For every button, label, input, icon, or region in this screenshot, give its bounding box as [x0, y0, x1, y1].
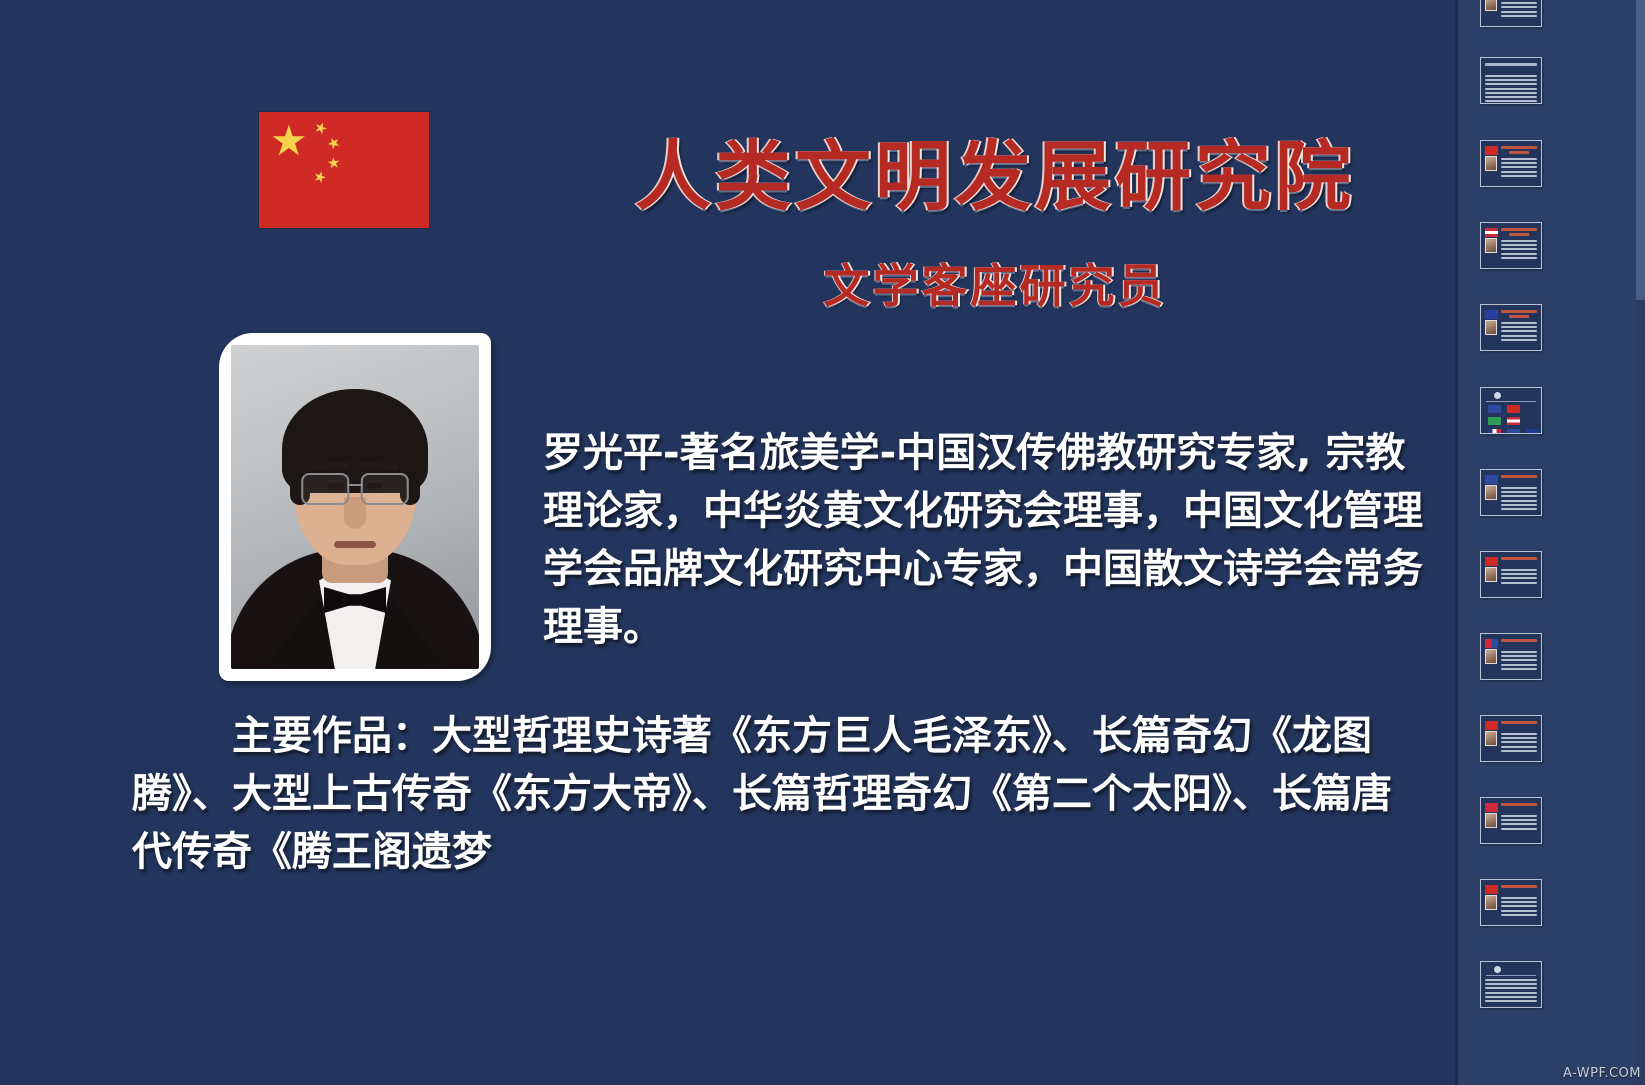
flag-star-small-2: ★ — [324, 133, 344, 153]
flag-star-small-4: ★ — [311, 168, 328, 186]
thumbnail-photo — [1485, 156, 1497, 171]
flag-star-small-3: ★ — [326, 155, 341, 171]
portrait-photo — [231, 345, 479, 669]
thumbnail-text-lines — [1501, 0, 1537, 22]
thumbnail-text-lines — [1501, 897, 1537, 921]
slide-thumbnail[interactable] — [1480, 304, 1542, 351]
thumbnail-title-bar — [1501, 639, 1537, 642]
slide-thumbnail[interactable] — [1480, 469, 1542, 516]
thumbnail-title-bar — [1501, 146, 1537, 149]
thumbnail-title-bar — [1501, 557, 1537, 560]
portrait-eye-left — [328, 483, 344, 489]
thumbnail-text-lines — [1501, 322, 1537, 346]
slide-thumbnail-rail[interactable] — [1455, 0, 1645, 1085]
slide-thumbnail[interactable] — [1480, 222, 1542, 269]
thumbnail-photo — [1485, 813, 1497, 828]
thumbnail-photo — [1485, 731, 1497, 746]
thumbnail-flag-icon — [1485, 885, 1498, 894]
thumbnail-flag-icon — [1485, 310, 1498, 319]
watermark: A-WPF.COM — [1563, 1066, 1641, 1081]
thumbnail-divider — [1486, 975, 1536, 976]
thumbnail-text-lines — [1501, 815, 1537, 839]
thumbnail-title-bar — [1501, 475, 1537, 478]
slide-thumbnail[interactable] — [1480, 0, 1542, 27]
thumbnail-title-bar — [1501, 721, 1537, 724]
thumbnail-photo — [1485, 320, 1497, 335]
portrait-glasses-right — [361, 473, 409, 505]
rail-scrollbar[interactable] — [1636, 0, 1645, 1085]
thumbnail-photo — [1485, 0, 1497, 11]
slide-thumbnail[interactable] — [1480, 879, 1542, 926]
thumbnail-text-lines — [1501, 569, 1537, 593]
thumbnail-subtitle-bar — [1509, 233, 1529, 236]
biography-paragraph: 罗光平-著名旅美学-中国汉传佛教研究专家, 宗教理论家，中华炎黄文化研究会理事，… — [543, 424, 1423, 656]
slide-thumbnail[interactable] — [1480, 961, 1542, 1008]
thumbnail-flag-icon — [1485, 228, 1498, 237]
slide-thumbnail[interactable] — [1480, 387, 1542, 434]
thumbnail-title-bar — [1501, 803, 1537, 806]
slide-thumbnail[interactable] — [1480, 140, 1542, 187]
thumbnail-text-lines — [1501, 733, 1537, 757]
slide-thumbnail[interactable] — [1480, 715, 1542, 762]
slide-thumbnail[interactable] — [1480, 797, 1542, 844]
thumbnail-text-lines — [1501, 158, 1537, 182]
thumbnail-photo — [1485, 649, 1497, 664]
slide-thumbnail[interactable] — [1480, 633, 1542, 680]
slide-canvas[interactable]: ★ ★ ★ ★ ★ 人类文明发展研究院 文学客座研究员 — [0, 0, 1455, 1085]
thumbnail-logo-icon — [1494, 966, 1501, 973]
thumbnail-photo — [1485, 895, 1497, 910]
thumbnail-text-lines — [1501, 487, 1537, 511]
rail-scrollbar-thumb[interactable] — [1636, 0, 1645, 300]
works-paragraph: 主要作品：大型哲理史诗著《东方巨人毛泽东》、长篇奇幻《龙图腾》、大型上古传奇《东… — [132, 707, 1417, 881]
portrait-eye-right — [366, 483, 382, 489]
thumbnail-text-lines — [1501, 240, 1537, 264]
flag-star-small-1: ★ — [312, 119, 330, 138]
flag-star-large: ★ — [270, 120, 308, 162]
slide-title: 人类文明发展研究院 — [600, 115, 1390, 225]
presentation-viewer: ★ ★ ★ ★ ★ 人类文明发展研究院 文学客座研究员 — [0, 0, 1645, 1085]
portrait-nose — [344, 497, 366, 529]
thumbnail-flag-icon — [1485, 721, 1498, 730]
portrait-glasses-bridge — [347, 484, 363, 486]
thumbnail-photo — [1485, 238, 1497, 253]
thumbnail-flag-grid — [1488, 404, 1534, 428]
slide-thumbnail[interactable] — [1480, 551, 1542, 598]
slide-subtitle: 文学客座研究员 — [600, 250, 1390, 316]
thumbnail-title-bar — [1501, 310, 1537, 313]
thumbnail-title-bar — [1485, 63, 1537, 66]
thumbnail-flag-icon — [1485, 146, 1498, 155]
thumbnail-strip — [1458, 0, 1636, 1085]
china-flag-icon: ★ ★ ★ ★ ★ — [259, 112, 429, 228]
thumbnail-subtitle-bar — [1509, 151, 1529, 154]
thumbnail-logo-icon — [1494, 392, 1501, 399]
thumbnail-flag-icon — [1485, 557, 1498, 566]
thumbnail-text-lines — [1485, 979, 1537, 1003]
thumbnail-photo — [1485, 485, 1497, 500]
thumbnail-subtitle-bar — [1509, 315, 1529, 318]
thumbnail-flag-icon — [1485, 639, 1498, 648]
thumbnail-text-lines — [1501, 651, 1537, 675]
slide-thumbnail[interactable] — [1480, 57, 1542, 104]
portrait-glasses-left — [301, 473, 349, 505]
thumbnail-text-lines — [1485, 75, 1537, 99]
thumbnail-flag-icon — [1485, 803, 1498, 812]
thumbnail-title-bar — [1501, 228, 1537, 231]
portrait-frame — [219, 333, 491, 681]
thumbnail-title-bar — [1501, 885, 1537, 888]
thumbnail-divider — [1486, 401, 1536, 402]
thumbnail-flag-icon — [1485, 475, 1498, 484]
portrait-mouth — [334, 541, 376, 548]
thumbnail-photo — [1485, 567, 1497, 582]
